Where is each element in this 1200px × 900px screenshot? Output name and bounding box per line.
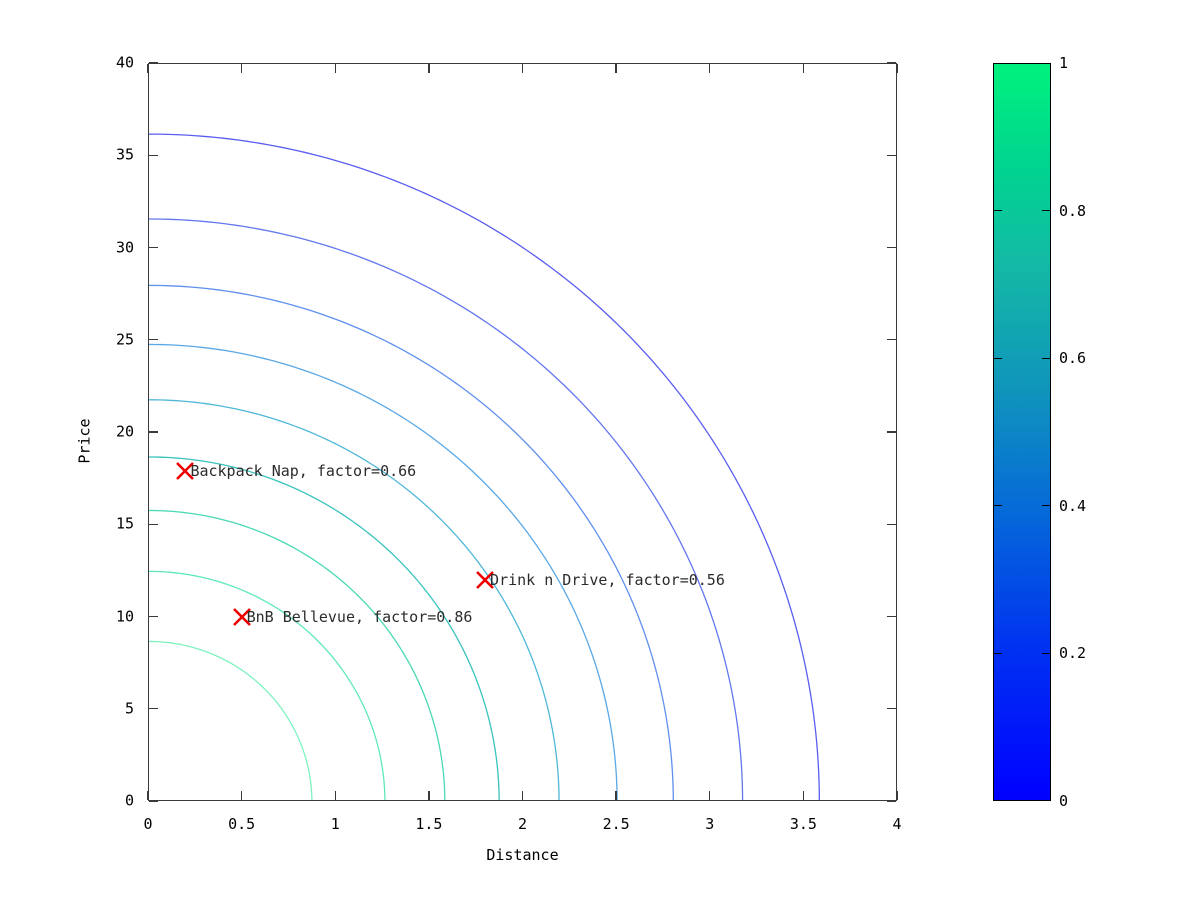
x-tick-label: 3.5	[790, 817, 817, 832]
colorbar-tick-mark	[1042, 210, 1051, 211]
x-tick-label: 2.5	[603, 817, 630, 832]
y-tick-mark	[887, 524, 896, 525]
y-tick-mark	[887, 155, 896, 156]
x-tick-mark	[428, 64, 429, 73]
x-tick-label: 1.5	[415, 817, 442, 832]
x-tick-mark	[896, 64, 897, 73]
x-tick-mark	[335, 791, 336, 800]
x-tick-mark	[428, 791, 429, 800]
x-tick-mark	[147, 64, 148, 73]
colorbar-gradient	[993, 63, 1051, 801]
y-tick-label: 25	[88, 332, 134, 347]
contour-line	[149, 344, 617, 801]
colorbar-tick-mark	[993, 358, 1002, 359]
x-tick-mark	[522, 64, 523, 73]
x-tick-mark	[896, 791, 897, 800]
y-tick-label: 40	[88, 56, 134, 71]
y-tick-mark	[149, 339, 158, 340]
x-tick-label: 4	[892, 817, 901, 832]
y-tick-mark	[149, 708, 158, 709]
contour-line	[149, 285, 673, 801]
x-tick-mark	[709, 64, 710, 73]
y-tick-mark	[887, 62, 896, 63]
y-tick-label: 30	[88, 240, 134, 255]
contour-line	[149, 571, 385, 801]
x-tick-mark	[803, 64, 804, 73]
x-tick-mark	[335, 64, 336, 73]
colorbar-tick-mark	[993, 210, 1002, 211]
colorbar-tick-label: 0.4	[1059, 497, 1086, 515]
y-axis-title: Price	[76, 418, 94, 463]
x-tick-mark	[147, 791, 148, 800]
chart-root: 051015202530354000.511.522.533.54 Distan…	[0, 0, 1200, 900]
colorbar-tick-label: 0	[1059, 792, 1068, 810]
x-tick-mark	[615, 64, 616, 73]
x-tick-label: 3	[705, 817, 714, 832]
y-tick-label: 35	[88, 148, 134, 163]
contour-lines	[149, 64, 897, 801]
x-tick-mark	[615, 791, 616, 800]
y-tick-mark	[887, 616, 896, 617]
y-tick-mark	[149, 616, 158, 617]
y-tick-label: 20	[88, 425, 134, 440]
contour-line	[149, 457, 499, 801]
contour-line	[149, 641, 312, 801]
x-tick-mark	[241, 64, 242, 73]
contour-line	[149, 219, 743, 801]
colorbar-tick-mark	[1042, 653, 1051, 654]
y-tick-mark	[887, 800, 896, 801]
colorbar-tick-mark	[1042, 505, 1051, 506]
y-tick-mark	[887, 247, 896, 248]
y-tick-mark	[887, 431, 896, 432]
y-tick-mark	[887, 708, 896, 709]
x-tick-label: 0.5	[228, 817, 255, 832]
colorbar: 00.20.40.60.81	[993, 63, 1051, 801]
x-axis-title: Distance	[0, 846, 1045, 864]
x-tick-mark	[241, 791, 242, 800]
contour-line	[149, 400, 559, 801]
y-tick-label: 0	[88, 794, 134, 809]
y-tick-mark	[149, 155, 158, 156]
x-tick-mark	[522, 791, 523, 800]
colorbar-tick-label: 0.8	[1059, 202, 1086, 220]
colorbar-tick-label: 0.6	[1059, 349, 1086, 367]
x-tick-label: 2	[518, 817, 527, 832]
colorbar-tick-mark	[1042, 358, 1051, 359]
colorbar-tick-label: 1	[1059, 54, 1068, 72]
x-tick-mark	[709, 791, 710, 800]
y-tick-label: 5	[88, 701, 134, 716]
y-tick-mark	[149, 800, 158, 801]
colorbar-tick-mark	[993, 505, 1002, 506]
plot-area	[148, 63, 897, 801]
y-tick-mark	[149, 431, 158, 432]
y-tick-mark	[887, 339, 896, 340]
colorbar-tick-label: 0.2	[1059, 644, 1086, 662]
y-tick-mark	[149, 62, 158, 63]
contour-line	[149, 510, 445, 801]
colorbar-tick-mark	[993, 653, 1002, 654]
x-tick-label: 0	[143, 817, 152, 832]
y-tick-mark	[149, 247, 158, 248]
y-tick-label: 15	[88, 517, 134, 532]
x-tick-label: 1	[331, 817, 340, 832]
y-tick-mark	[149, 524, 158, 525]
y-tick-label: 10	[88, 609, 134, 624]
x-tick-mark	[803, 791, 804, 800]
